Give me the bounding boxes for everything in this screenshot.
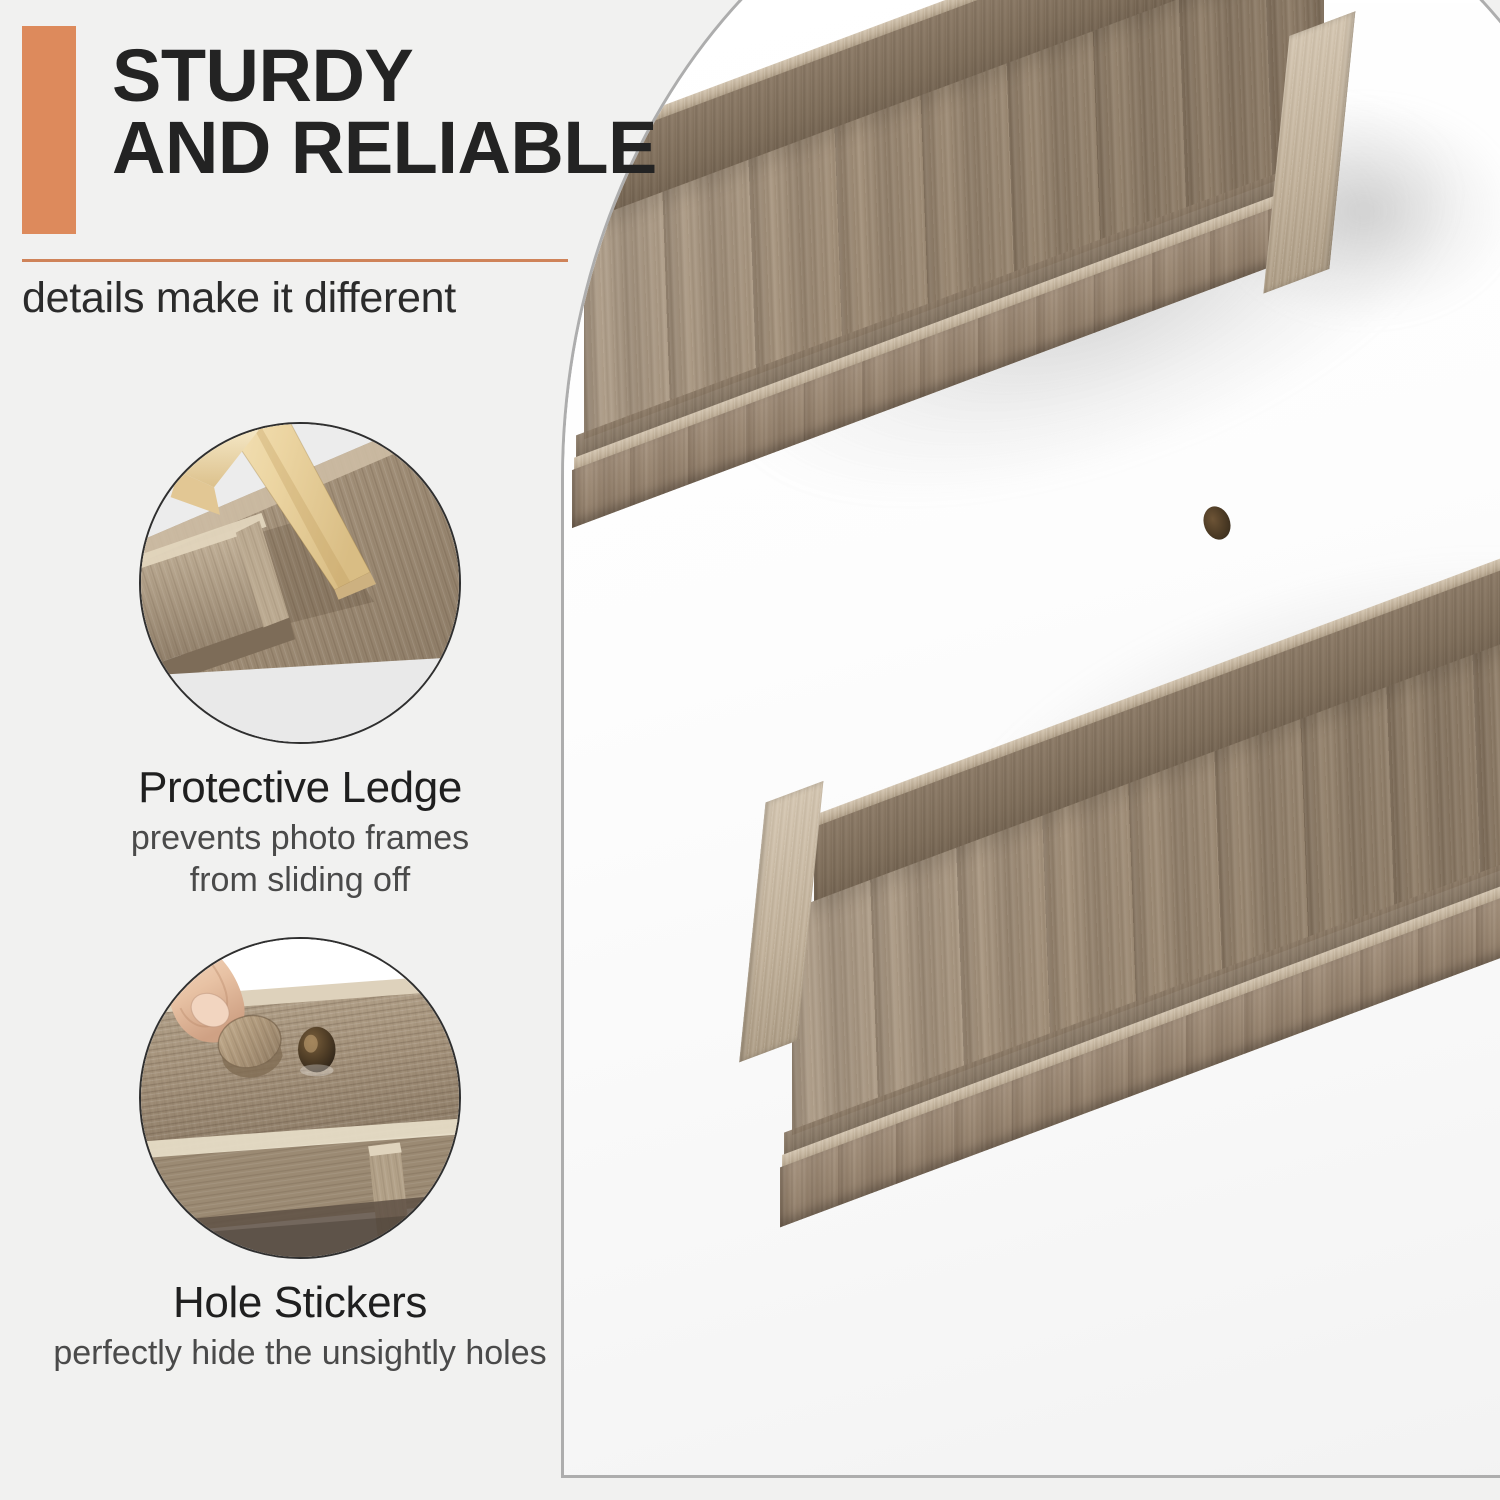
protective-ledge-illustration [141, 424, 459, 742]
feature-1-description: prevents photo frames from sliding off [0, 818, 600, 901]
page-title: STURDY AND RELIABLE [112, 40, 752, 184]
feature-2-photo [139, 937, 461, 1259]
feature-2-title: Hole Stickers [0, 1279, 600, 1327]
feature-1-title: Protective Ledge [0, 764, 600, 812]
product-photo-scene [564, 0, 1500, 1475]
left-info-panel: STURDY AND RELIABLE details make it diff… [0, 0, 600, 1500]
feature-hole-stickers: Hole Stickers perfectly hide the unsight… [0, 937, 600, 1375]
feature-protective-ledge: Protective Ledge prevents photo frames f… [0, 422, 600, 901]
product-photo-arch-panel [561, 0, 1500, 1478]
hole-stickers-illustration [141, 939, 459, 1257]
title-divider [22, 259, 568, 262]
feature-2-description: perfectly hide the unsightly holes [0, 1333, 600, 1374]
accent-bar [22, 26, 76, 234]
mounting-hole-icon-lower [1199, 503, 1235, 544]
page-subtitle: details make it different [22, 274, 456, 323]
feature-1-photo [139, 422, 461, 744]
